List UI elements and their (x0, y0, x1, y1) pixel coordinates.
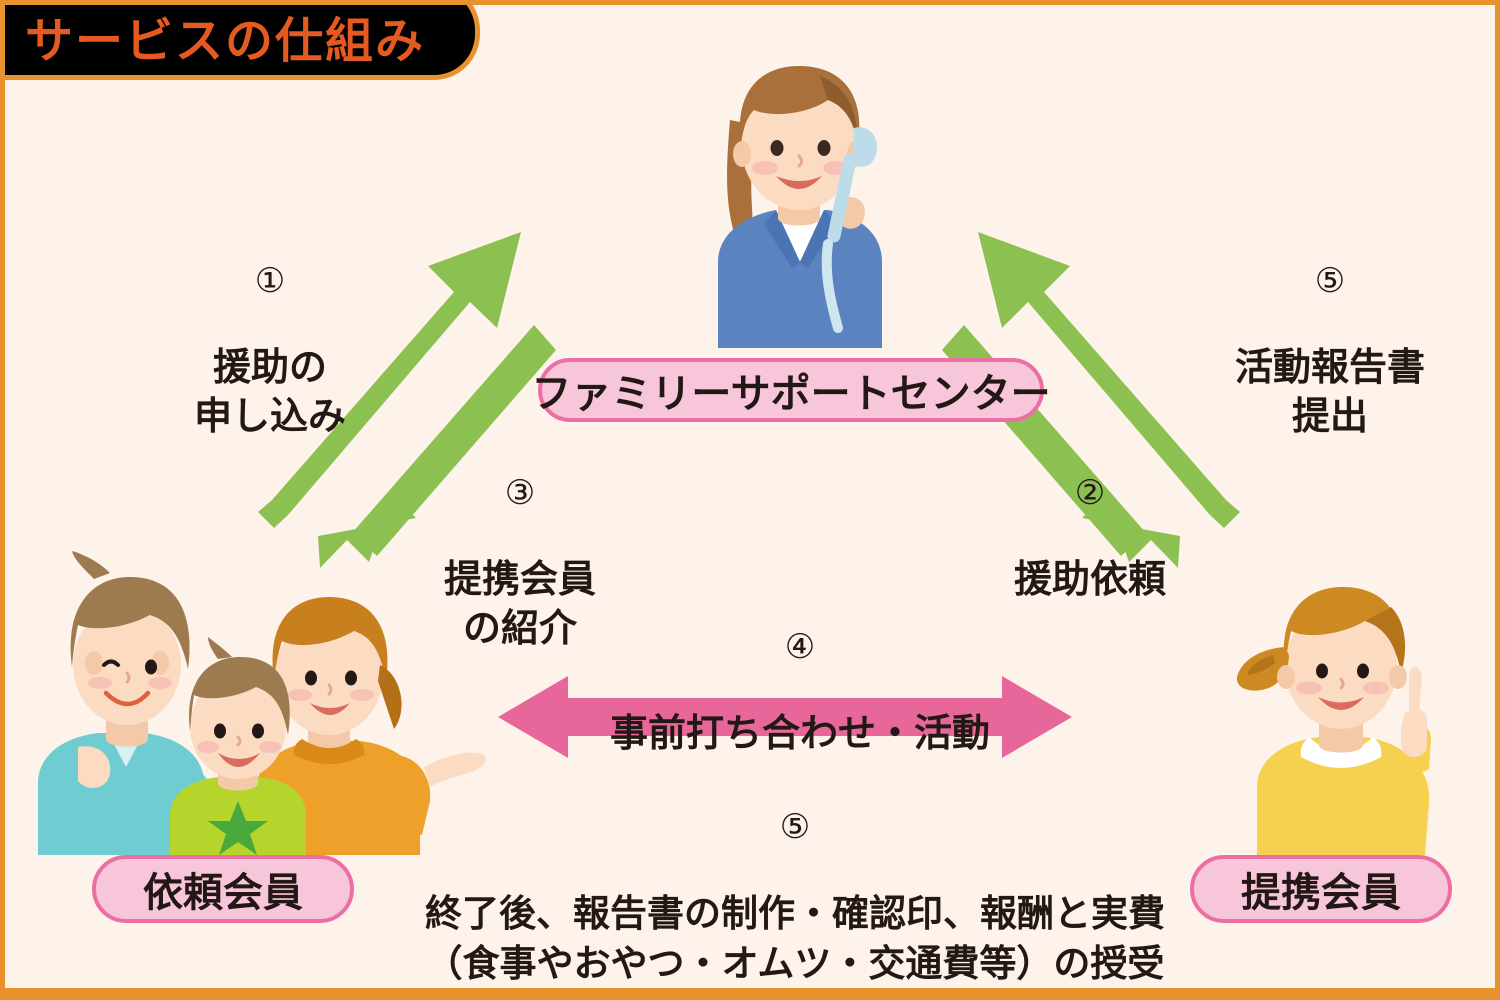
node-label-provider: 提携会員 (1190, 855, 1452, 923)
frame-border-left (0, 0, 5, 1000)
frame-border-right (1495, 0, 1500, 1000)
step-number-1: ① (130, 263, 410, 300)
illustration-operator (668, 48, 928, 348)
step-number-5-bottom: ⑤ (400, 809, 1190, 846)
page-title: サービスの仕組み (25, 1, 425, 71)
step-number-5-right: ⑤ (1170, 263, 1490, 300)
title-tab: サービスの仕組み (0, 0, 480, 80)
step-label-5-bottom: ⑤ 終了後、報告書の制作・確認印、報酬と実費 （食事やおやつ・オムツ・交通費等）… (400, 768, 1190, 1000)
step-number-2: ② (950, 475, 1230, 512)
step-text-4: 事前打ち合わせ・活動 (540, 709, 1060, 758)
step-text-1: 援助の 申し込み (130, 343, 410, 440)
diagram-canvas: サービスの仕組み ファミリーサポートセンター 依頼会員 提携会員 ① 援助の 申… (0, 0, 1500, 1000)
frame-border-top (0, 0, 1500, 5)
illustration-provider (1185, 555, 1485, 855)
step-text-5-bottom: 終了後、報告書の制作・確認印、報酬と実費 （食事やおやつ・オムツ・交通費等）の授… (400, 889, 1190, 989)
node-label-center: ファミリーサポートセンター (538, 358, 1044, 422)
frame-border-bottom (0, 988, 1500, 1000)
step-number-4: ④ (540, 629, 1060, 666)
step-text-5-right: 活動報告書 提出 (1170, 343, 1490, 440)
step-number-3: ③ (380, 475, 660, 512)
node-label-requester: 依頼会員 (92, 855, 354, 923)
step-label-1: ① 援助の 申し込み (130, 222, 410, 481)
